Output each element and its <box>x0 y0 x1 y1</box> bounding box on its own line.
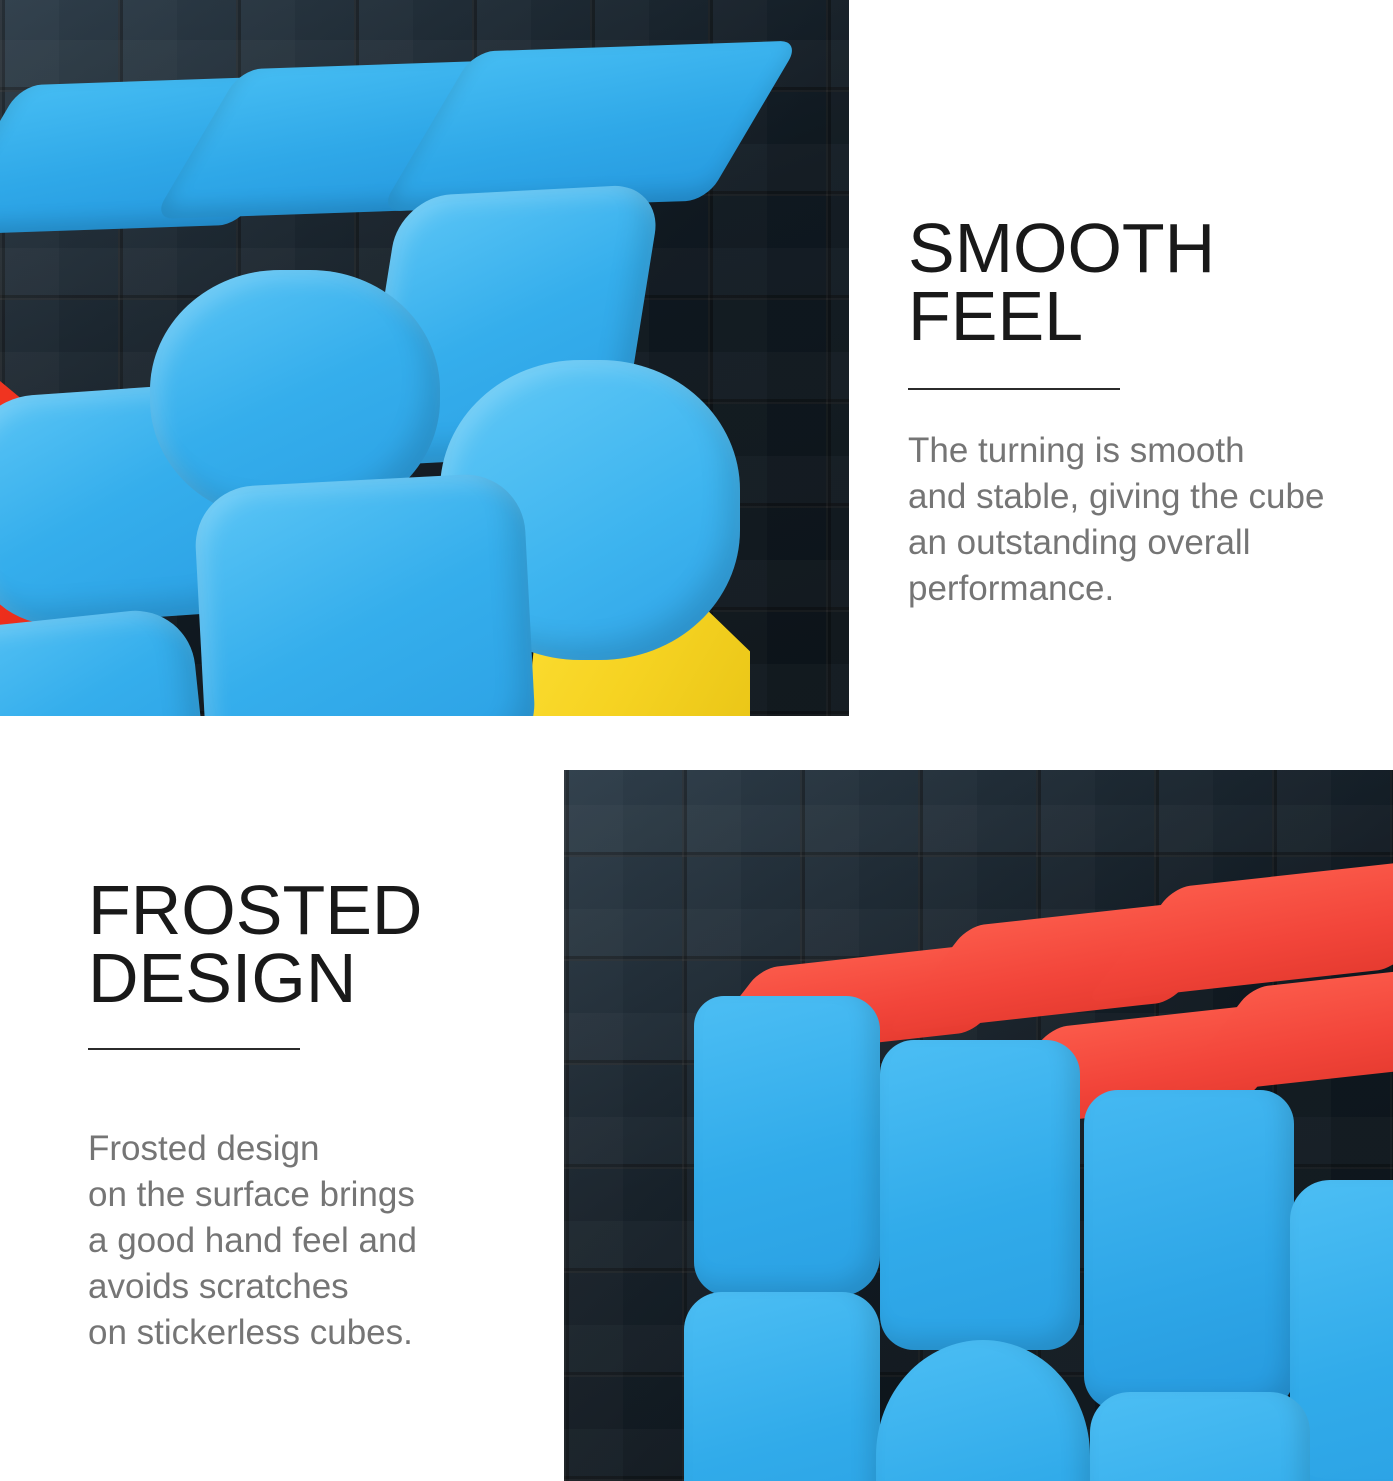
feature-body-frosted-design: Frosted design on the surface brings a g… <box>88 1126 508 1356</box>
cubie-blue-front-6 <box>876 1340 1090 1481</box>
feature-title-smooth-feel: SMOOTH FEEL <box>908 214 1393 350</box>
title-divider <box>908 388 1120 390</box>
feature-body-smooth-feel: The turning is smooth and stable, giving… <box>908 428 1393 612</box>
speed-cube-closeup <box>0 60 760 716</box>
photo-smooth-feel <box>0 0 849 716</box>
cubie-blue-lower-left <box>0 605 210 716</box>
feature-block-smooth-feel: SMOOTH FEEL The turning is smooth and st… <box>908 214 1393 612</box>
feature-title-frosted-design: FROSTED DESIGN <box>88 876 508 1012</box>
cubie-blue-front-5 <box>684 1292 880 1481</box>
cubie-blue-front-2 <box>880 1040 1080 1350</box>
photo-frosted-design <box>564 770 1393 1481</box>
cubie-blue-bottom <box>193 472 538 716</box>
title-divider <box>88 1048 300 1050</box>
cubie-blue-front-3 <box>1084 1090 1294 1410</box>
cubie-blue-front-7 <box>1090 1392 1310 1481</box>
feature-block-frosted-design: FROSTED DESIGN Frosted design on the sur… <box>88 876 508 1356</box>
cubie-blue-front-1 <box>694 996 880 1296</box>
speed-cube-corner <box>724 900 1393 1481</box>
